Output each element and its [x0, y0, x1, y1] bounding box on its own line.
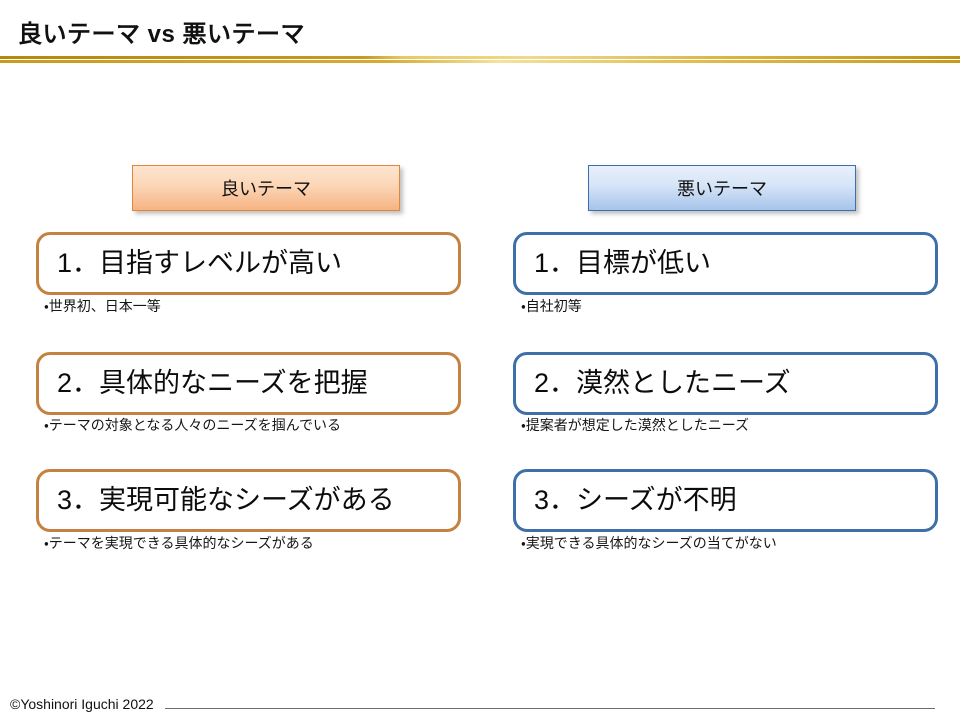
good-item-card-2: 2．具体的なニーズを把握 [36, 352, 461, 415]
bad-item-card-1: 1．目標が低い [513, 232, 938, 295]
column-header-bad: 悪いテーマ [588, 165, 856, 211]
bad-item-label-3: 3．シーズが不明 [516, 487, 737, 514]
title-divider [0, 56, 960, 63]
footer-divider [165, 708, 935, 709]
bad-item-label-1: 1．目標が低い [516, 250, 711, 277]
bad-item-card-3: 3．シーズが不明 [513, 469, 938, 532]
good-item-label-1: 1．目指すレベルが高い [39, 250, 342, 277]
bad-item-label-2: 2．漠然としたニーズ [516, 370, 791, 397]
bad-item-card-2: 2．漠然としたニーズ [513, 352, 938, 415]
slide-canvas: 良いテーマ vs 悪いテーマ 良いテーマ 悪いテーマ 1．目指すレベルが高い ・… [0, 0, 960, 720]
good-item-label-2: 2．具体的なニーズを把握 [39, 370, 368, 397]
good-item-card-3: 3．実現可能なシーズがある [36, 469, 461, 532]
bad-item-note-1: ・自社初等 [521, 299, 582, 313]
good-item-label-3: 3．実現可能なシーズがある [39, 487, 395, 514]
page-title: 良いテーマ vs 悪いテーマ [18, 14, 305, 49]
bad-item-note-2: ・提案者が想定した漠然としたニーズ [521, 418, 749, 432]
column-header-good-label: 良いテーマ [221, 175, 311, 201]
column-header-bad-label: 悪いテーマ [677, 175, 767, 201]
footer-copyright: ©Yoshinori Iguchi 2022 [10, 696, 154, 712]
bad-item-note-3: ・実現できる具体的なシーズの当てがない [521, 536, 777, 550]
good-item-note-3: ・テーマを実現できる具体的なシーズがある [44, 536, 314, 550]
title-divider-lower-bar [0, 60, 960, 63]
good-item-note-2: ・テーマの対象となる人々のニーズを掴んでいる [44, 418, 341, 432]
good-item-card-1: 1．目指すレベルが高い [36, 232, 461, 295]
column-header-good: 良いテーマ [132, 165, 400, 211]
good-item-note-1: ・世界初、日本一等 [44, 299, 161, 313]
